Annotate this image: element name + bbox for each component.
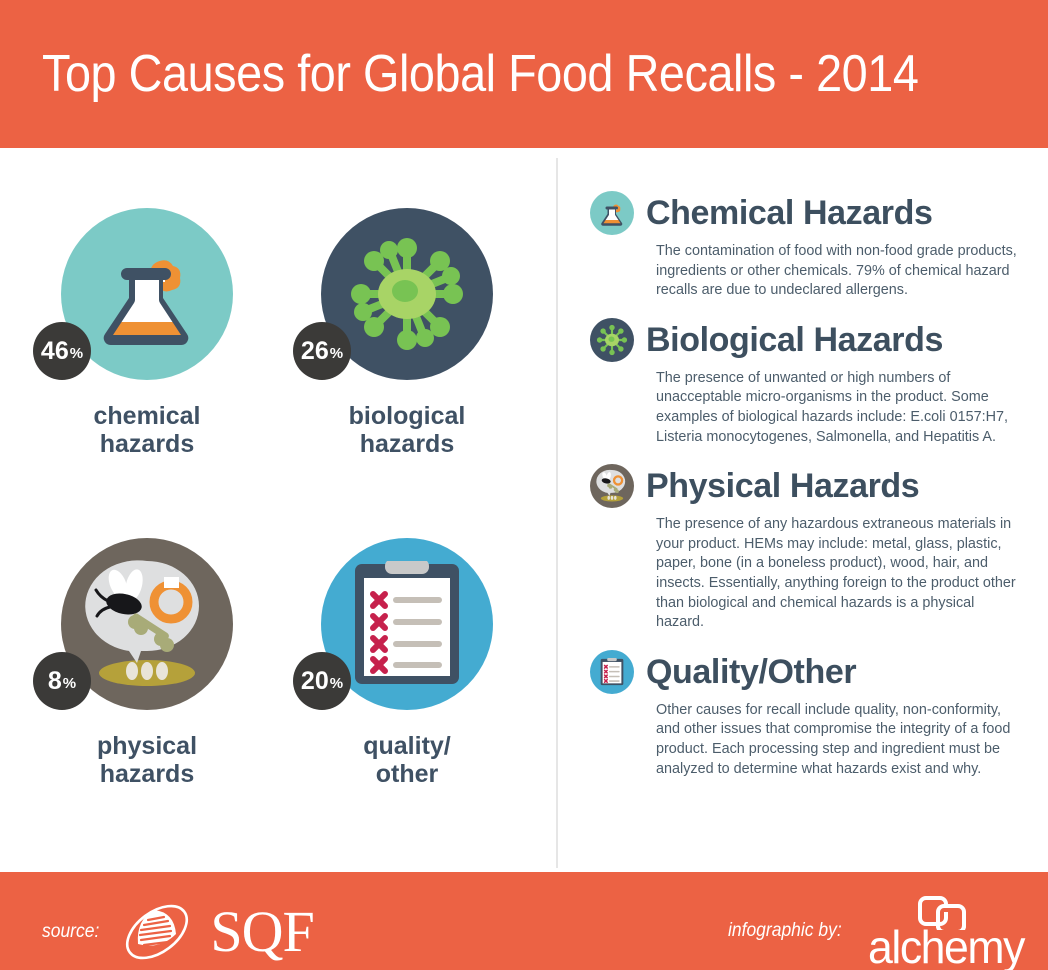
section-title: Physical Hazards (646, 468, 919, 504)
stat-label-physical: physical hazards (22, 732, 272, 788)
percent-symbol: % (330, 676, 343, 691)
infographic-credit: infographic by: alchemy (728, 896, 1008, 966)
stat-label-line1: biological (282, 402, 532, 430)
stat-badge-chemical: 46% (33, 322, 91, 380)
percent-symbol: % (70, 346, 83, 361)
section-biological-hazards: Biological Hazards The presence of unwan… (590, 317, 1020, 447)
flask-icon (91, 238, 203, 350)
contaminant-bread-icon (590, 464, 634, 508)
stat-label-chemical: chemical hazards (22, 402, 272, 458)
section-title: Chemical Hazards (646, 195, 933, 231)
stat-label-line2: hazards (22, 760, 272, 788)
stat-label-biological: biological hazards (282, 402, 532, 458)
stat-label-line1: chemical (22, 402, 272, 430)
infographic-page: Top Causes for Global Food Recalls - 201… (0, 0, 1048, 970)
section-header: Quality/Other (590, 649, 1020, 695)
stat-percent-value: 8 (48, 669, 62, 694)
contaminant-glyph (593, 467, 631, 505)
section-body: The presence of any hazardous extraneous… (656, 515, 1020, 633)
source-credit: source: SQF (42, 900, 314, 964)
source-label: source: (42, 921, 99, 943)
stat-chemical-hazards: 46% chemical hazards (22, 208, 272, 458)
column-divider (556, 158, 558, 868)
stat-circle-wrap: 8% (22, 538, 272, 718)
section-header: Physical Hazards (590, 463, 1020, 509)
virus-glyph (595, 323, 629, 357)
clipboard-icon (352, 561, 462, 687)
stat-label-line2: other (282, 760, 532, 788)
section-header: Biological Hazards (590, 317, 1020, 363)
stat-label-line1: quality/ (282, 732, 532, 760)
stat-label-line2: hazards (22, 430, 272, 458)
flask-icon (590, 191, 634, 235)
descriptions-column: Chemical Hazards The contamination of fo… (590, 190, 1020, 795)
section-body: The presence of unwanted or high numbers… (656, 369, 1020, 447)
section-title: Quality/Other (646, 654, 856, 690)
percent-symbol: % (330, 346, 343, 361)
stat-badge-quality: 20% (293, 652, 351, 710)
sqf-wordmark: SQF (210, 903, 313, 961)
stat-biological-hazards: 26% biological hazards (282, 208, 532, 458)
section-chemical-hazards: Chemical Hazards The contamination of fo… (590, 190, 1020, 301)
clipboard-icon (590, 650, 634, 694)
virus-icon (344, 231, 470, 357)
stat-percent-value: 20 (301, 669, 329, 694)
page-title: Top Causes for Global Food Recalls - 201… (42, 44, 918, 104)
header-banner: Top Causes for Global Food Recalls - 201… (0, 0, 1048, 148)
stats-grid: 46% chemical hazards (0, 148, 556, 866)
stat-circle-wrap: 46% (22, 208, 272, 388)
section-body: Other causes for recall include quality,… (656, 701, 1020, 779)
stat-label-line1: physical (22, 732, 272, 760)
stat-physical-hazards: 8% physical hazards (22, 538, 272, 788)
alchemy-wordmark: alchemy (868, 924, 1024, 970)
alchemy-logo: alchemy (868, 896, 1008, 966)
section-title: Biological Hazards (646, 322, 943, 358)
credit-label: infographic by: (728, 920, 842, 942)
stat-badge-physical: 8% (33, 652, 91, 710)
sqf-wheat-logo-icon (118, 900, 196, 964)
section-quality-other: Quality/Other Other causes for recall in… (590, 649, 1020, 779)
stat-label-line2: hazards (282, 430, 532, 458)
stat-percent-value: 46 (41, 339, 69, 364)
contaminant-bread-icon (72, 549, 222, 699)
stat-circle-wrap: 26% (282, 208, 532, 388)
percent-symbol: % (63, 676, 76, 691)
section-body: The contamination of food with non-food … (656, 242, 1020, 301)
virus-icon (590, 318, 634, 362)
footer-banner: source: SQF infographic by: (0, 872, 1048, 970)
stat-badge-biological: 26% (293, 322, 351, 380)
section-physical-hazards: Physical Hazards The presence of any haz… (590, 463, 1020, 633)
stat-percent-value: 26 (301, 339, 329, 364)
stat-quality-other: 20% quality/ other (282, 538, 532, 788)
section-header: Chemical Hazards (590, 190, 1020, 236)
clipboard-glyph (600, 658, 624, 686)
stat-label-quality: quality/ other (282, 732, 532, 788)
flask-glyph (598, 199, 626, 227)
stat-circle-wrap: 20% (282, 538, 532, 718)
